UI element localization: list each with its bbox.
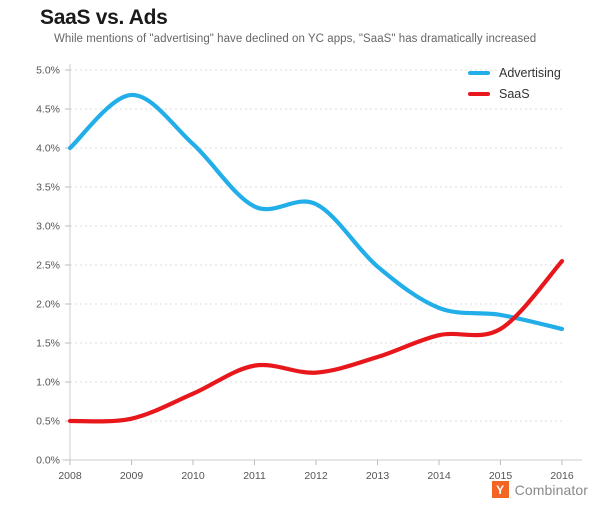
legend-swatch-advertising xyxy=(468,71,490,75)
x-tick-label: 2011 xyxy=(243,470,266,482)
legend-label-advertising: Advertising xyxy=(499,66,561,80)
legend-item-saas[interactable]: SaaS xyxy=(468,83,588,104)
y-tick-label: 1.5% xyxy=(36,338,60,350)
chart-legend: Advertising SaaS xyxy=(460,58,592,108)
x-tick-label: 2012 xyxy=(304,470,328,482)
legend-label-saas: SaaS xyxy=(499,87,530,101)
y-tick-label: 2.5% xyxy=(36,260,60,272)
x-tick-label: 2010 xyxy=(181,470,205,482)
y-tick-label: 1.0% xyxy=(36,377,60,389)
legend-swatch-saas xyxy=(468,92,490,96)
chart-card: SaaS vs. Ads While mentions of "advertis… xyxy=(0,0,600,508)
y-tick-label: 5.0% xyxy=(36,65,60,77)
x-tick-label: 2008 xyxy=(58,470,82,482)
series-line-advertising xyxy=(70,95,562,329)
x-tick-label: 2013 xyxy=(366,470,390,482)
legend-item-advertising[interactable]: Advertising xyxy=(468,62,588,83)
y-axis-ticks: 0.0%0.5%1.0%1.5%2.0%2.5%3.0%3.5%4.0%4.5%… xyxy=(36,65,70,467)
ycombinator-logo: Y Combinator xyxy=(492,481,588,498)
x-tick-label: 2014 xyxy=(427,470,451,482)
y-tick-label: 2.0% xyxy=(36,299,60,311)
y-tick-label: 3.0% xyxy=(36,221,60,233)
x-axis-ticks: 200820092010201120122013201420152016 xyxy=(58,460,574,482)
y-tick-label: 0.5% xyxy=(36,416,60,428)
yc-mark-icon: Y xyxy=(492,481,509,498)
y-tick-label: 4.5% xyxy=(36,104,60,116)
yc-wordmark: Combinator xyxy=(515,482,588,498)
data-series xyxy=(70,95,562,421)
axis-lines xyxy=(62,64,582,460)
series-line-saas xyxy=(70,261,562,421)
x-tick-label: 2009 xyxy=(120,470,144,482)
gridlines xyxy=(70,70,562,421)
y-tick-label: 4.0% xyxy=(36,143,60,155)
y-tick-label: 0.0% xyxy=(36,455,60,467)
y-tick-label: 3.5% xyxy=(36,182,60,194)
